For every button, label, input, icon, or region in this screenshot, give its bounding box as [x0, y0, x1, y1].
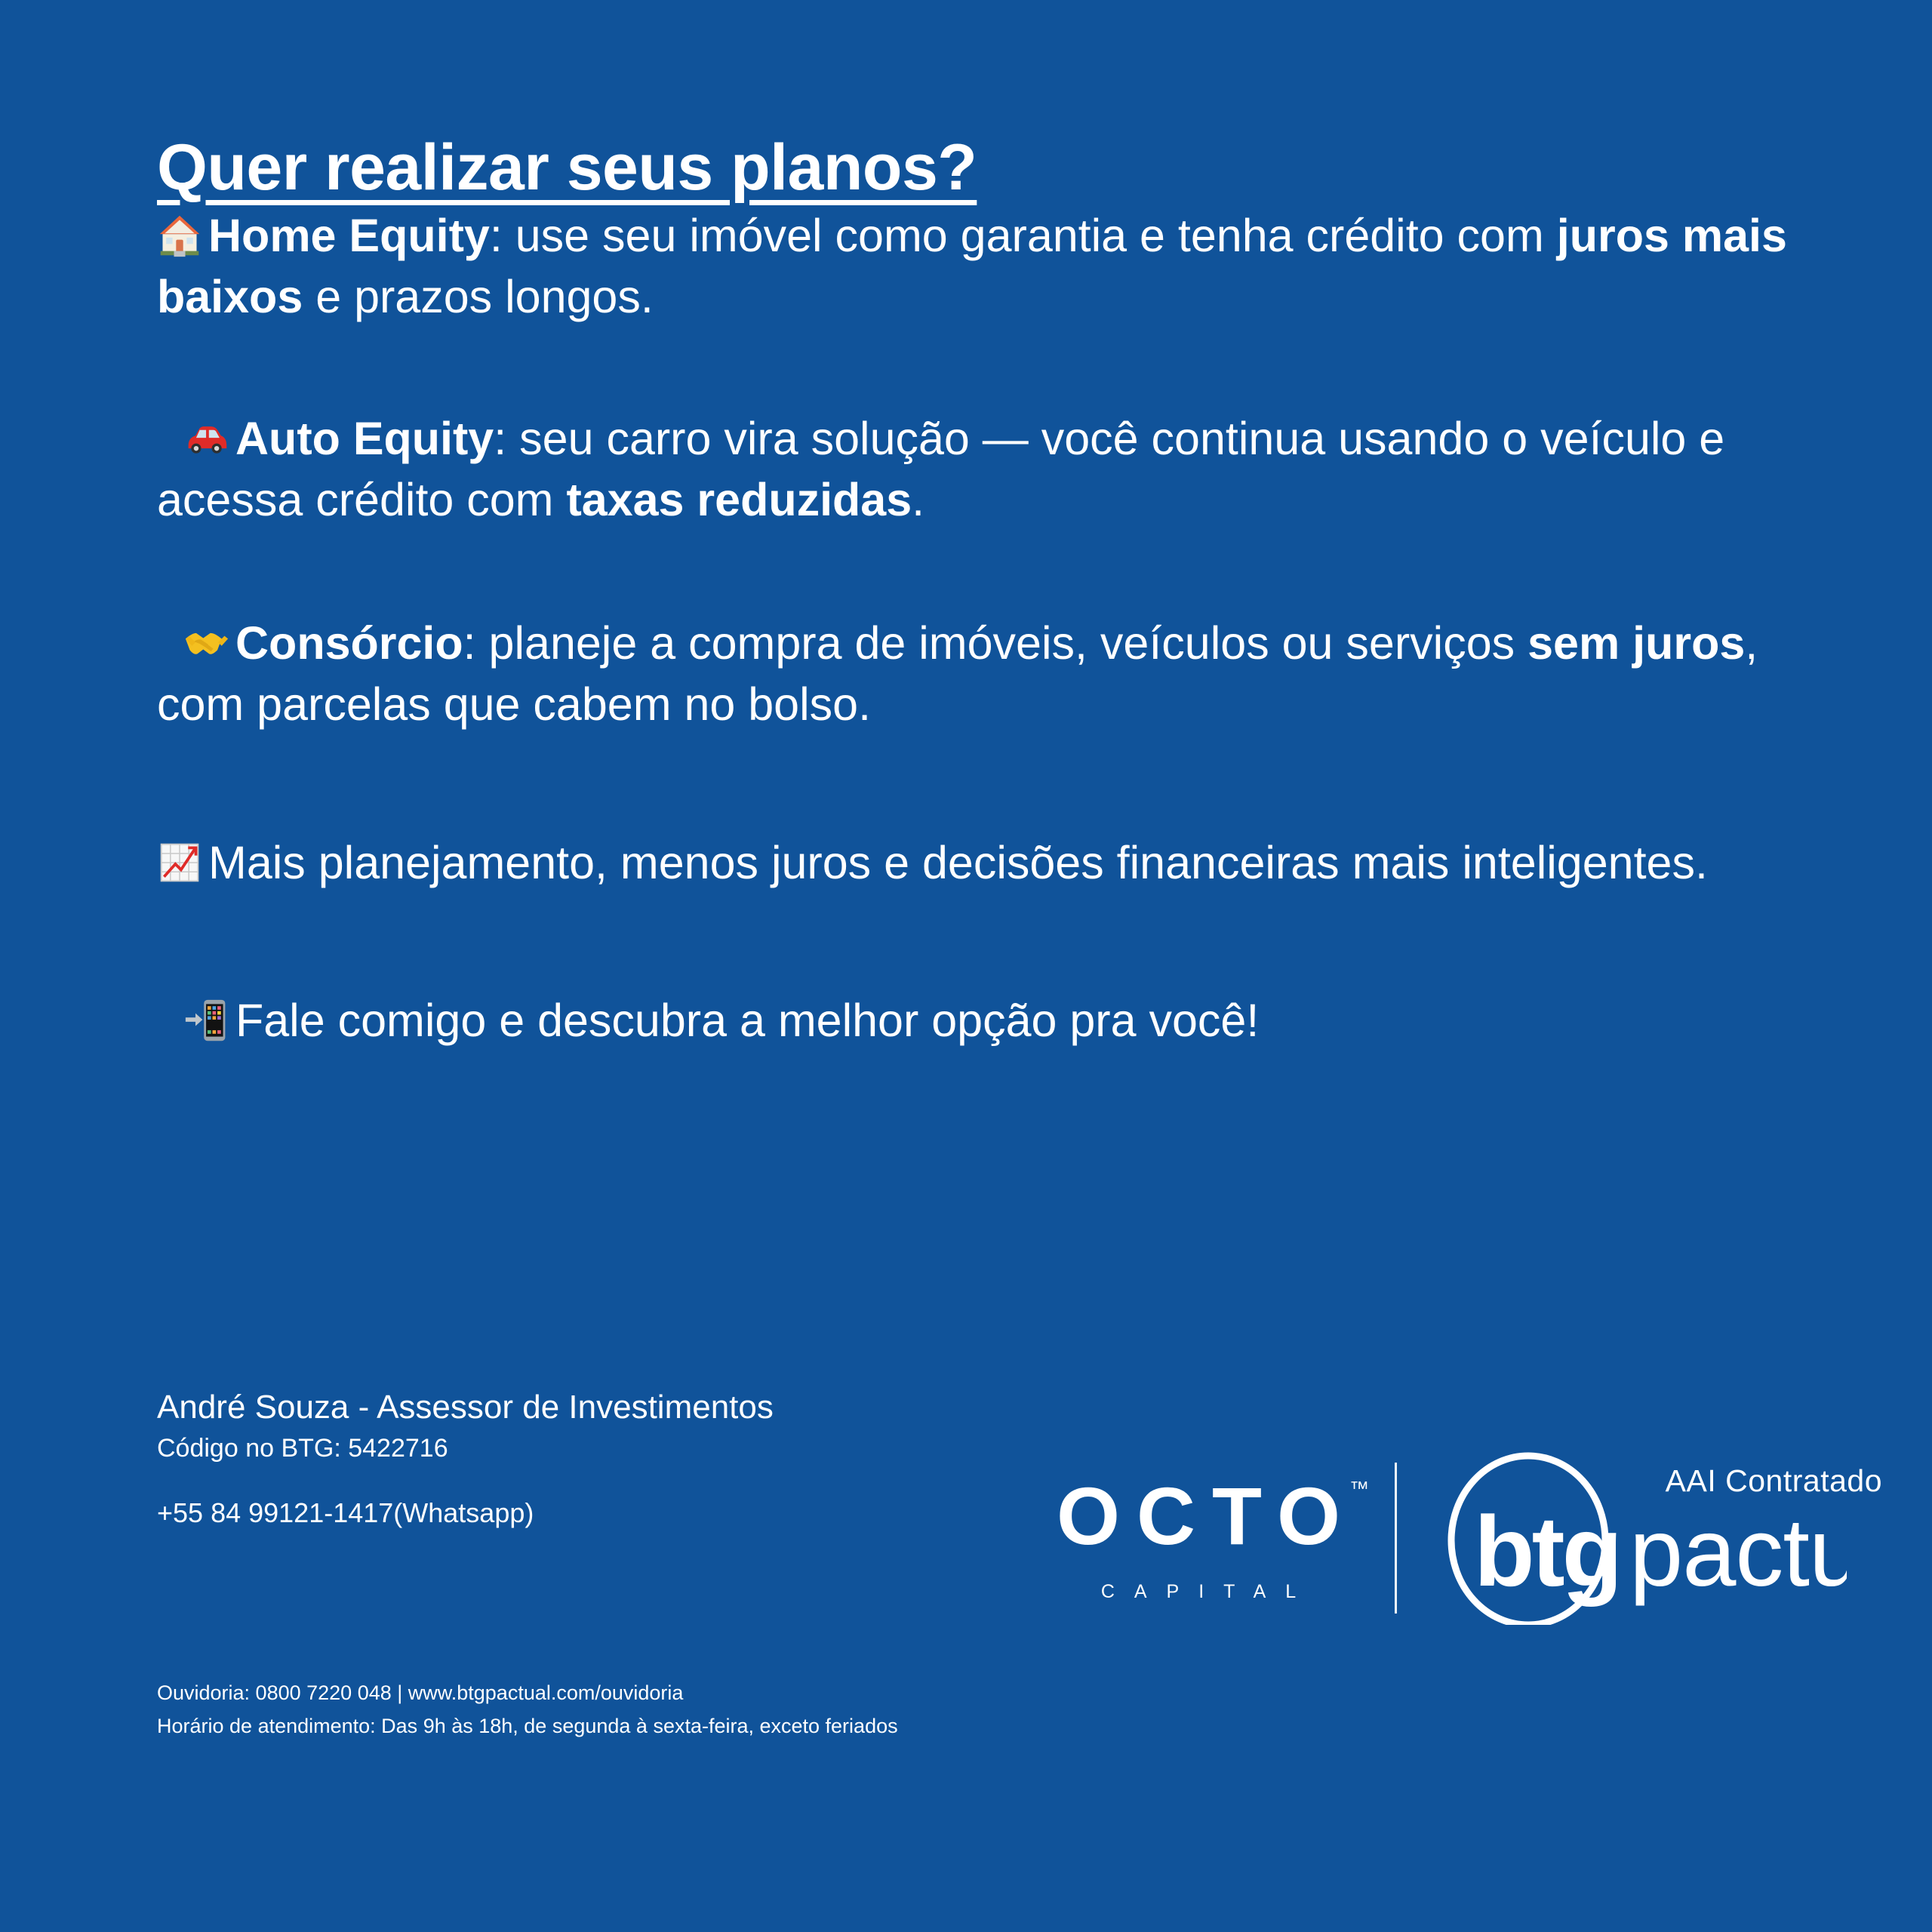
house-emoji [157, 213, 202, 258]
body-copy: Home Equity: use seu imóvel como garanti… [157, 205, 1841, 1051]
benefit-highlight-1: sem juros [1527, 617, 1745, 669]
mobile-phone-with-arrow-emoji [184, 998, 229, 1043]
spacer [157, 734, 1841, 832]
benefit-text-1: planeje a compra de imóveis, veículos ou… [489, 617, 1528, 669]
chart-increasing-emoji [157, 840, 202, 885]
ouvidoria-line: Ouvidoria: 0800 7220 048 | www.btgpactua… [157, 1677, 898, 1710]
btg-wordmark-icon: btg pactual [1439, 1451, 1847, 1625]
benefit-lead-label: Home Equity [208, 210, 490, 261]
svg-text:pactual: pactual [1629, 1499, 1847, 1607]
legal-fineprint: Ouvidoria: 0800 7220 048 | www.btgpactua… [157, 1677, 898, 1743]
btg-pactual-logo: AAI Contratado btg pactual [1439, 1451, 1885, 1625]
advisor-name: André Souza - Assessor de Investimentos [157, 1387, 987, 1428]
advisor-code: Código no BTG: 5422716 [157, 1432, 987, 1465]
red-car-emoji [184, 416, 229, 461]
benefit-auto-equity: Auto Equity: seu carro vira solução — vo… [157, 408, 1841, 530]
svg-text:btg: btg [1474, 1496, 1620, 1607]
benefit-text-2: e prazos longos. [303, 271, 654, 322]
poster-canvas: Quer realizar seus planos? Home Equity: … [0, 0, 1932, 1932]
octo-subtitle: CAPITAL [1032, 1583, 1364, 1601]
business-hours-line: Horário de atendimento: Das 9h às 18h, d… [157, 1710, 898, 1743]
benefit-separator: : [494, 413, 519, 464]
benefit-text-2: . [912, 474, 924, 525]
call-to-action: Fale comigo e descubra a melhor opção pr… [157, 990, 1841, 1051]
closing-statement: Mais planejamento, menos juros e decisõe… [157, 832, 1841, 894]
benefit-highlight-1: taxas reduzidas [566, 474, 912, 525]
benefit-consorcio: Consórcio: planeje a compra de imóveis, … [157, 613, 1841, 734]
benefit-separator: : [490, 210, 515, 261]
signature-block: André Souza - Assessor de Investimentos … [157, 1387, 987, 1530]
benefit-separator: : [463, 617, 489, 669]
benefit-home-equity: Home Equity: use seu imóvel como garanti… [157, 205, 1841, 327]
spacer [157, 530, 1841, 613]
logo-divider [1395, 1463, 1397, 1614]
page-title: Quer realizar seus planos? [157, 133, 977, 203]
advisor-phone[interactable]: +55 84 99121-1417(Whatsapp) [157, 1496, 987, 1530]
octo-wordmark: OCTO [1032, 1475, 1364, 1557]
handshake-emoji [184, 620, 229, 666]
spacer [157, 894, 1841, 990]
trademark-icon: ™ [1349, 1478, 1369, 1498]
octo-capital-logo: OCTO ™ CAPITAL [1032, 1475, 1364, 1601]
logo-lockup: OCTO ™ CAPITAL AAI Contratado btg pactua… [1032, 1432, 1885, 1644]
cta-text: Fale comigo e descubra a melhor opção pr… [235, 995, 1259, 1046]
benefit-lead-label: Consórcio [235, 617, 463, 669]
spacer [157, 327, 1841, 408]
closing-text: Mais planejamento, menos juros e decisõe… [208, 837, 1708, 888]
benefit-lead-label: Auto Equity [235, 413, 494, 464]
benefit-text-1: use seu imóvel como garantia e tenha cré… [515, 210, 1557, 261]
